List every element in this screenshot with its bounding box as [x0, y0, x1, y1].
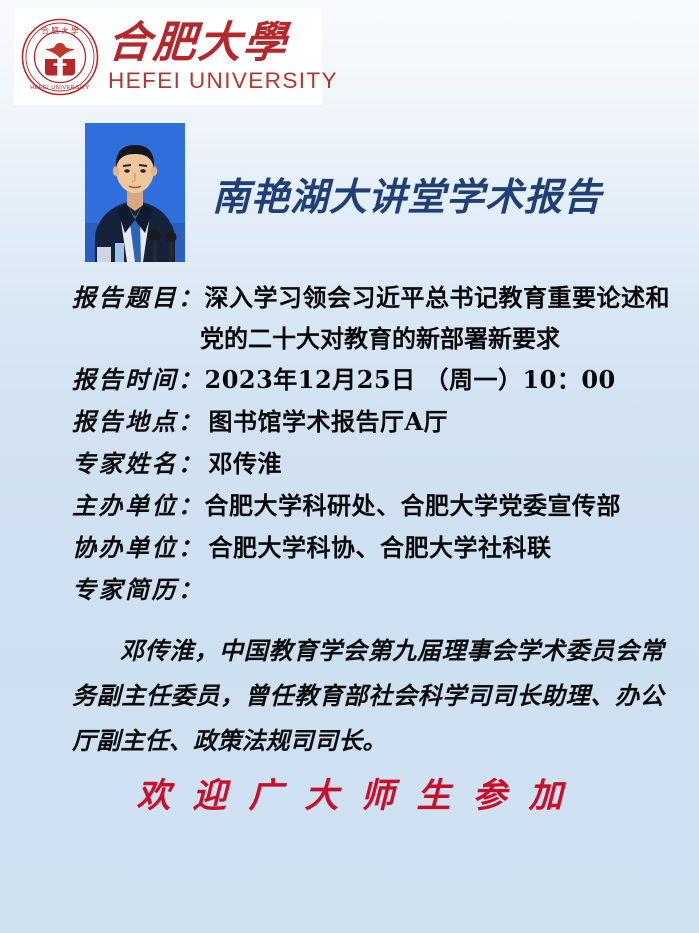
detail-row-place: 报告地点： 图书馆学术报告厅A厅: [72, 402, 662, 442]
host-value: 合肥大学科研处、合肥大学党委宣传部: [205, 486, 622, 526]
speaker-portrait: [85, 123, 185, 262]
poster-canvas: 合 肥 大 學 HEFEI UNIVERSITY 合肥大學 HEFEI UNIV…: [0, 0, 699, 933]
detail-row-host: 主办单位： 合肥大学科研处、合肥大学党委宣传部: [72, 486, 662, 526]
speaker-biography: 邓传淮，中国教育学会第九届理事会学术委员会常务副主任委员，曾任教育部社会科学司司…: [72, 628, 664, 763]
cohost-label: 协办单位：: [72, 528, 205, 568]
detail-row-bio-label: 专家简历：: [72, 570, 662, 610]
welcome-message: 欢迎广大师生参加: [0, 772, 699, 820]
time-value: 2023年12月25日 （周一）10：00: [205, 360, 616, 400]
university-wordmark: 合肥大學 HEFEI UNIVERSITY: [108, 19, 338, 94]
wordmark-chinese: 合肥大學: [106, 19, 339, 67]
bio-label: 专家简历：: [72, 570, 205, 610]
topic-value-line2: 党的二十大对教育的新部署新要求: [200, 318, 662, 360]
host-label: 主办单位：: [72, 486, 205, 526]
detail-row-topic: 报告题目： 深入学习领会习近平总书记教育重要论述和 党的二十大对教育的新部署新要…: [72, 278, 662, 360]
place-label: 报告地点：: [72, 402, 205, 442]
detail-row-cohost: 协办单位： 合肥大学科协、合肥大学社科联: [72, 528, 662, 568]
event-details: 报告题目： 深入学习领会习近平总书记教育重要论述和 党的二十大对教育的新部署新要…: [72, 278, 662, 612]
university-logo-band: 合 肥 大 學 HEFEI UNIVERSITY 合肥大學 HEFEI UNIV…: [14, 8, 322, 105]
svg-text:合 肥 大 學: 合 肥 大 學: [41, 25, 79, 35]
expert-value: 邓传淮: [209, 444, 283, 484]
svg-text:HEFEI UNIVERSITY: HEFEI UNIVERSITY: [30, 85, 90, 91]
time-label: 报告时间：: [72, 360, 205, 400]
expert-label: 专家姓名：: [72, 444, 205, 484]
place-value: 图书馆学术报告厅A厅: [209, 402, 449, 442]
cohost-value: 合肥大学科协、合肥大学社科联: [209, 528, 552, 568]
detail-row-time: 报告时间： 2023年12月25日 （周一）10：00: [72, 360, 662, 400]
wordmark-english: HEFEI UNIVERSITY: [108, 68, 338, 94]
page-title: 南艳湖大讲堂学术报告: [212, 174, 602, 220]
detail-row-expert: 专家姓名： 邓传淮: [72, 444, 662, 484]
hefei-university-seal-icon: 合 肥 大 學 HEFEI UNIVERSITY: [20, 17, 100, 97]
topic-value-line1: 深入学习领会习近平总书记教育重要论述和: [205, 278, 671, 318]
topic-label: 报告题目：: [72, 278, 205, 318]
